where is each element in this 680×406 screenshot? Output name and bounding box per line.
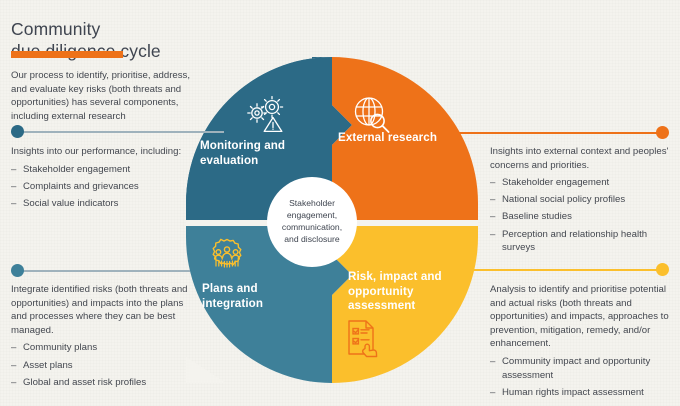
connector-plans xyxy=(12,269,190,272)
connector-external xyxy=(452,131,668,134)
connector-line xyxy=(12,131,224,133)
list-item: Baseline studies xyxy=(490,210,670,224)
list-item: Perception and relationship health surve… xyxy=(490,228,670,255)
panel-monitoring: Insights into our performance, including… xyxy=(11,145,196,214)
intro-block: Our process to identify, prioritise, add… xyxy=(11,69,207,127)
globe-magnifier-icon xyxy=(352,96,392,139)
panel-risk: Analysis to identify and prioritise pote… xyxy=(490,283,670,403)
quadrant-label-monitoring: Monitoring and evaluation xyxy=(200,139,310,168)
list-item: Community plans xyxy=(11,341,193,355)
panel-risk-lead: Analysis to identify and prioritise pote… xyxy=(490,283,670,351)
list-item: Asset plans xyxy=(11,359,193,373)
list-item: Social value indicators xyxy=(11,197,196,211)
panel-risk-bullets: Community impact and opportunity assessm… xyxy=(490,355,670,399)
panel-external: Insights into external context and peopl… xyxy=(490,145,670,258)
list-item: Stakeholder engagement xyxy=(11,163,196,177)
list-item: Human rights impact assessment xyxy=(490,386,670,400)
title-accent-bar xyxy=(11,51,123,58)
connector-line xyxy=(452,269,668,271)
connector-dot-monitoring xyxy=(11,125,24,138)
checklist-hand-icon xyxy=(345,318,387,363)
quadrant-label-plans: Plans and integration xyxy=(202,282,312,311)
connector-dot-external xyxy=(656,126,669,139)
gears-warning-icon xyxy=(243,96,287,139)
panel-external-bullets: Stakeholder engagement National social p… xyxy=(490,176,670,255)
connector-line xyxy=(452,132,668,134)
connector-dot-risk xyxy=(656,263,669,276)
panel-plans-lead: Integrate identified risks (both threats… xyxy=(11,283,193,337)
connector-risk xyxy=(452,268,668,271)
gear-people-icon xyxy=(205,237,249,282)
panel-monitoring-bullets: Stakeholder engagement Complaints and gr… xyxy=(11,163,196,211)
title-line-1: Community xyxy=(11,19,100,39)
connector-dot-plans xyxy=(11,264,24,277)
panel-monitoring-lead: Insights into our performance, including… xyxy=(11,145,196,159)
panel-external-lead: Insights into external context and peopl… xyxy=(490,145,670,172)
connector-line xyxy=(12,270,190,272)
panel-plans: Integrate identified risks (both threats… xyxy=(11,283,193,393)
list-item: Community impact and opportunity assessm… xyxy=(490,355,670,382)
list-item: Stakeholder engagement xyxy=(490,176,670,190)
list-item: Complaints and grievances xyxy=(11,180,196,194)
panel-plans-bullets: Community plans Asset plans Global and a… xyxy=(11,341,193,389)
list-item: National social policy profiles xyxy=(490,193,670,207)
quadrant-label-risk: Risk, impact and opportunity assessment xyxy=(348,270,466,314)
infographic-page: Community due diligence cycle Our proces… xyxy=(0,0,680,406)
center-hub-text: Stakeholder engagement, communication, a… xyxy=(267,198,357,245)
intro-text: Our process to identify, prioritise, add… xyxy=(11,69,207,123)
connector-monitoring xyxy=(12,130,224,133)
center-hub: Stakeholder engagement, communication, a… xyxy=(267,177,357,267)
list-item: Global and asset risk profiles xyxy=(11,376,193,390)
